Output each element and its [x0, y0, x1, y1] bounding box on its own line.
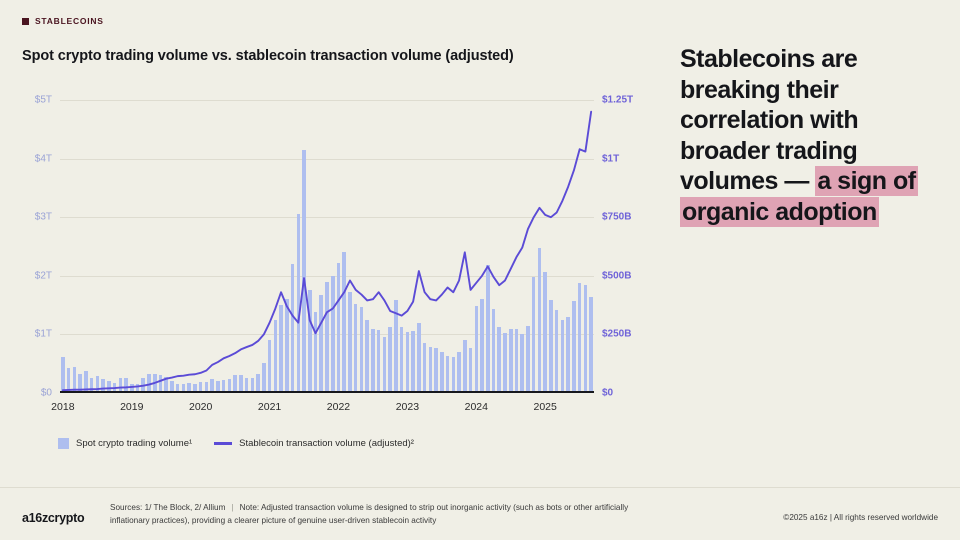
sources-note: Sources: 1/ The Block, 2/ Allium|Note: A… [110, 502, 670, 527]
x-axis-tick-label: 2022 [327, 401, 350, 413]
y-axis-right-tick-label: $500B [602, 270, 631, 281]
y-axis-left-tick-label: $3T [35, 212, 52, 223]
legend-label-bar: Spot crypto trading volume¹ [76, 438, 192, 449]
sources-separator: | [225, 503, 239, 512]
x-axis-tick-label: 2024 [465, 401, 488, 413]
y-axis-right-tick-label: $0 [602, 388, 613, 399]
legend-item-bar: Spot crypto trading volume¹ [58, 438, 192, 449]
y-axis-right-tick-label: $1T [602, 153, 619, 164]
x-axis-tick-label: 2020 [189, 401, 212, 413]
chart-legend: Spot crypto trading volume¹ Stablecoin t… [58, 438, 414, 449]
chart-plot-area: $0$1T$2T$3T$4T$5T $0$250B$500B$750B$1T$1… [60, 100, 594, 393]
y-axis-left-tick-label: $1T [35, 329, 52, 340]
x-axis-tick-label: 2025 [534, 401, 557, 413]
legend-label-line: Stablecoin transaction volume (adjusted)… [239, 438, 414, 449]
x-axis-tick-label: 2019 [120, 401, 143, 413]
topic-tag-label: STABLECOINS [35, 16, 104, 26]
x-axis-baseline [60, 391, 594, 393]
y-axis-left-tick-label: $2T [35, 270, 52, 281]
a16z-crypto-logo: a16zcrypto [22, 511, 84, 525]
x-axis-tick-label: 2018 [51, 401, 74, 413]
y-axis-right-tick-label: $1.25T [602, 95, 633, 106]
x-axis-tick-label: 2021 [258, 401, 281, 413]
y-axis-right-tick-label: $750B [602, 212, 631, 223]
x-axis-tick-label: 2023 [396, 401, 419, 413]
tag-square-icon [22, 18, 29, 25]
headline: Stablecoins are breaking their correlati… [680, 44, 942, 227]
chart-container: $0$1T$2T$3T$4T$5T $0$250B$500B$750B$1T$1… [22, 90, 642, 420]
legend-swatch-bar-icon [58, 438, 69, 449]
footer-divider [0, 487, 960, 488]
line-series-stablecoin-transaction-volume [60, 100, 594, 393]
y-axis-left-tick-label: $4T [35, 153, 52, 164]
chart-title: Spot crypto trading volume vs. stablecoi… [22, 48, 514, 64]
sources-text: Sources: 1/ The Block, 2/ Allium [110, 503, 225, 512]
infographic-page: STABLECOINS Spot crypto trading volume v… [0, 0, 960, 540]
line-path [63, 112, 591, 390]
y-axis-left-tick-label: $5T [35, 95, 52, 106]
legend-item-line: Stablecoin transaction volume (adjusted)… [214, 438, 414, 449]
y-axis-right-tick-label: $250B [602, 329, 631, 340]
legend-swatch-line-icon [214, 442, 232, 445]
y-axis-left-tick-label: $0 [41, 388, 52, 399]
topic-tag: STABLECOINS [22, 16, 104, 26]
copyright-text: ©2025 a16z | All rights reserved worldwi… [783, 513, 938, 522]
